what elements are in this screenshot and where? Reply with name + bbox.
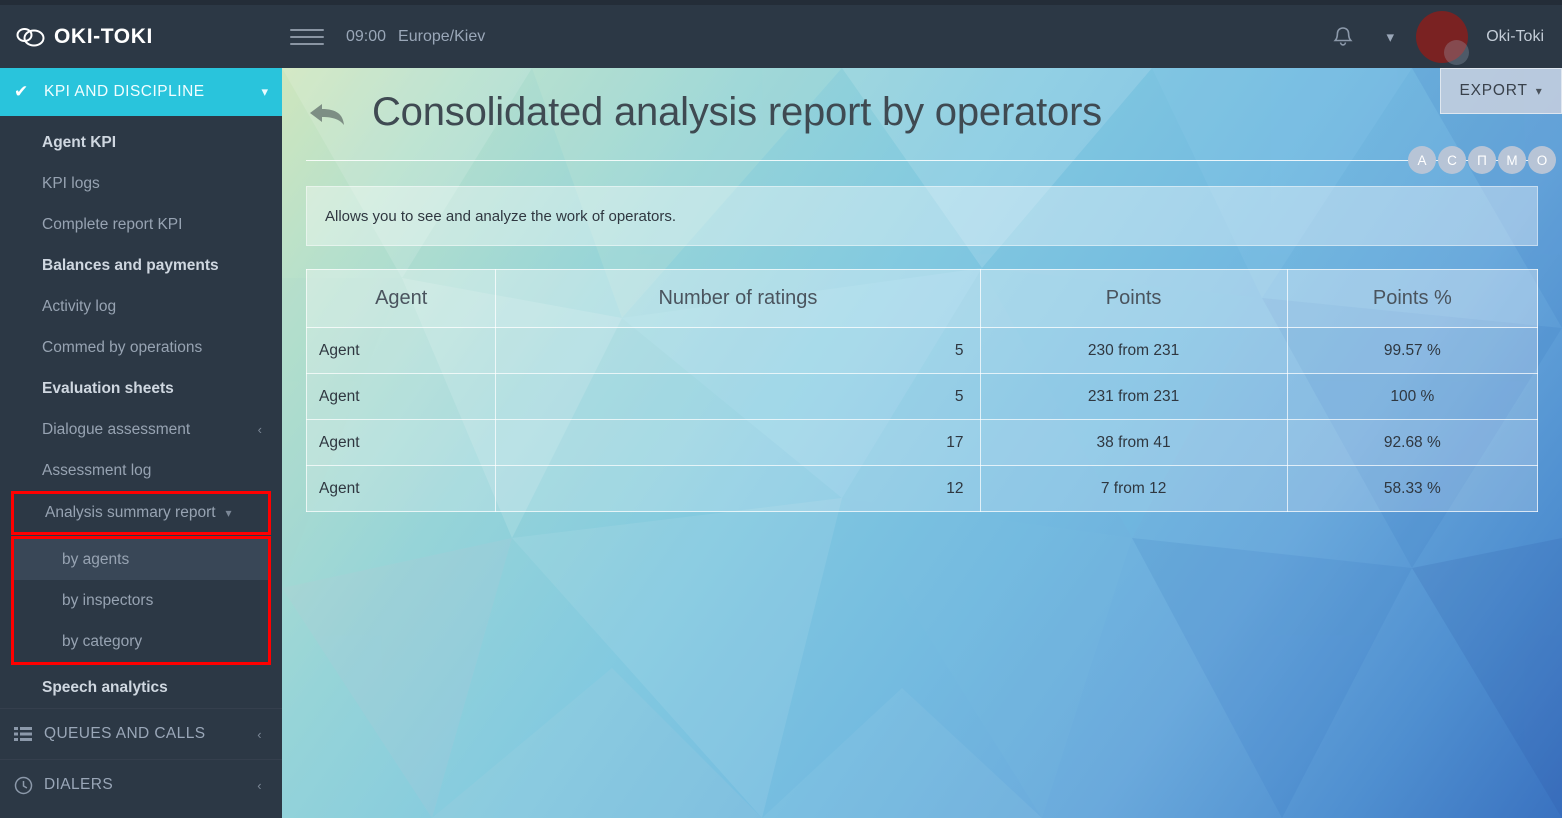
table-head: Agent Number of ratings Points Points % (307, 270, 1538, 328)
column-header-points-pct[interactable]: Points % (1287, 270, 1537, 328)
sidebar-subitem-label: by inspectors (62, 592, 153, 610)
table-row[interactable]: Agent 5 231 from 231 100 % (307, 374, 1538, 420)
sidebar-item-label: Dialogue assessment (42, 421, 190, 439)
export-button[interactable]: EXPORT ▾ (1440, 68, 1562, 114)
letter-pill-o[interactable]: О (1528, 146, 1556, 174)
sidebar-subitem-label: by category (62, 633, 142, 651)
sidebar-item-balances-and-payments[interactable]: Balances and payments (0, 245, 282, 286)
cell-agent: Agent (307, 328, 496, 374)
column-header-ratings[interactable]: Number of ratings (496, 270, 980, 328)
sidebar-item-label: Agent KPI (42, 134, 116, 152)
info-banner: Allows you to see and analyze the work o… (306, 186, 1538, 246)
sidebar-subitem-by-inspectors[interactable]: by inspectors (14, 580, 268, 621)
report-table-container: Agent Number of ratings Points Points % … (306, 269, 1538, 512)
table-row[interactable]: Agent 17 38 from 41 92.68 % (307, 420, 1538, 466)
clock: 09:00 Europe/Kiev (346, 28, 485, 46)
sidebar-item-evaluation-sheets[interactable]: Evaluation sheets (0, 368, 282, 409)
cell-agent: Agent (307, 374, 496, 420)
sidebar-item-assessment-log[interactable]: Assessment log (0, 450, 282, 491)
cloud-logo-icon (16, 25, 46, 49)
cell-agent: Agent (307, 466, 496, 512)
sidebar-item-label: KPI logs (42, 175, 100, 193)
avatar-status-dot (1444, 40, 1469, 65)
letter-pill-a[interactable]: А (1408, 146, 1436, 174)
sidebar-menu: Agent KPI KPI logs Complete report KPI B… (0, 116, 282, 708)
cell-points: 38 from 41 (980, 420, 1287, 466)
sidebar-section-kpi-and-discipline[interactable]: ✔ KPI AND DISCIPLINE ▾ (0, 68, 282, 116)
hamburger-icon[interactable] (290, 29, 324, 45)
sidebar-item-label: Evaluation sheets (42, 380, 174, 398)
chevron-left-icon: ‹ (257, 727, 262, 742)
cell-agent: Agent (307, 420, 496, 466)
info-banner-text: Allows you to see and analyze the work o… (325, 208, 676, 225)
cell-ratings: 17 (496, 420, 980, 466)
cell-points-pct: 100 % (1287, 374, 1537, 420)
chevron-down-icon: ▾ (226, 506, 232, 520)
list-icon (14, 726, 44, 742)
column-header-agent[interactable]: Agent (307, 270, 496, 328)
sidebar-item-activity-log[interactable]: Activity log (0, 286, 282, 327)
sidebar-section-queues-and-calls[interactable]: QUEUES AND CALLS ‹ (0, 708, 282, 759)
page-title: Consolidated analysis report by operator… (372, 90, 1102, 135)
sidebar-subitem-label: by agents (62, 551, 129, 569)
sidebar-item-analysis-summary-report[interactable]: Analysis summary report ▾ (11, 491, 271, 535)
cell-ratings: 5 (496, 328, 980, 374)
sidebar-item-label: Assessment log (42, 462, 151, 480)
cell-points-pct: 99.57 % (1287, 328, 1537, 374)
chevron-left-icon: ‹ (257, 778, 262, 793)
letter-filter-pills: А С П М О (1408, 146, 1556, 174)
table-body: Agent 5 230 from 231 99.57 % Agent 5 231… (307, 328, 1538, 512)
letter-pill-p[interactable]: П (1468, 146, 1496, 174)
sidebar-item-agent-kpi[interactable]: Agent KPI (0, 122, 282, 163)
sidebar-section-dialers[interactable]: DIALERS ‹ (0, 759, 282, 810)
user-name: Oki-Toki (1486, 28, 1544, 46)
clock-timezone: Europe/Kiev (398, 28, 485, 46)
sidebar-section-label: DIALERS (44, 776, 113, 794)
sidebar-item-label: Balances and payments (42, 257, 219, 275)
brand-name: OKI-TOKI (54, 25, 153, 49)
sidebar-item-label: Activity log (42, 298, 116, 316)
notification-bell-icon[interactable] (1320, 25, 1366, 49)
sidebar-item-dialogue-assessment[interactable]: Dialogue assessment ‹ (0, 409, 282, 450)
sidebar-item-label: Commed by operations (42, 339, 202, 357)
chevron-down-icon: ▾ (261, 84, 268, 100)
sidebar-item-kpi-logs[interactable]: KPI logs (0, 163, 282, 204)
letter-pill-m[interactable]: М (1498, 146, 1526, 174)
cell-ratings: 12 (496, 466, 980, 512)
sidebar-item-label: Speech analytics (42, 679, 168, 697)
chevron-left-icon: ‹ (258, 422, 262, 437)
sidebar-item-label: Analysis summary report (45, 504, 216, 522)
sidebar-section-label: KPI AND DISCIPLINE (44, 83, 261, 101)
sidebar-item-commed-by-operations[interactable]: Commed by operations (0, 327, 282, 368)
navbar-chevron-down-icon[interactable]: ▾ (1366, 28, 1414, 46)
back-arrow-icon[interactable] (306, 93, 350, 133)
brand[interactable]: OKI-TOKI (0, 25, 282, 49)
check-icon: ✔ (14, 82, 44, 102)
sidebar-subitem-by-category[interactable]: by category (14, 621, 268, 662)
top-navbar: OKI-TOKI 09:00 Europe/Kiev ▾ Oki-Toki (0, 5, 1562, 68)
cell-points: 231 from 231 (980, 374, 1287, 420)
clock-time: 09:00 (346, 28, 386, 46)
main-content: Consolidated analysis report by operator… (282, 68, 1562, 818)
header-divider (306, 160, 1538, 161)
avatar[interactable] (1414, 10, 1476, 64)
page-header: Consolidated analysis report by operator… (282, 68, 1562, 135)
chevron-down-icon: ▾ (1536, 84, 1543, 98)
report-table: Agent Number of ratings Points Points % … (306, 269, 1538, 512)
cell-points-pct: 92.68 % (1287, 420, 1537, 466)
sidebar-section-label: QUEUES AND CALLS (44, 725, 205, 743)
clock-icon (14, 776, 44, 795)
sidebar-item-label: Complete report KPI (42, 216, 182, 234)
sidebar-subitem-by-agents[interactable]: by agents (14, 539, 268, 580)
sidebar-item-speech-analytics[interactable]: Speech analytics (0, 667, 282, 708)
export-label: EXPORT (1459, 82, 1527, 100)
column-header-points[interactable]: Points (980, 270, 1287, 328)
cell-points: 7 from 12 (980, 466, 1287, 512)
table-row[interactable]: Agent 5 230 from 231 99.57 % (307, 328, 1538, 374)
sidebar: ✔ KPI AND DISCIPLINE ▾ Agent KPI KPI log… (0, 68, 282, 818)
cell-ratings: 5 (496, 374, 980, 420)
navbar-right: ▾ Oki-Toki (1320, 10, 1562, 64)
table-row[interactable]: Agent 12 7 from 12 58.33 % (307, 466, 1538, 512)
cell-points-pct: 58.33 % (1287, 466, 1537, 512)
app-root: OKI-TOKI 09:00 Europe/Kiev ▾ Oki-Toki (0, 0, 1562, 818)
table-header-row: Agent Number of ratings Points Points % (307, 270, 1538, 328)
sidebar-item-complete-report-kpi[interactable]: Complete report KPI (0, 204, 282, 245)
cell-points: 230 from 231 (980, 328, 1287, 374)
sidebar-submenu-analysis-summary-report: by agents by inspectors by category (11, 536, 271, 665)
letter-pill-s[interactable]: С (1438, 146, 1466, 174)
